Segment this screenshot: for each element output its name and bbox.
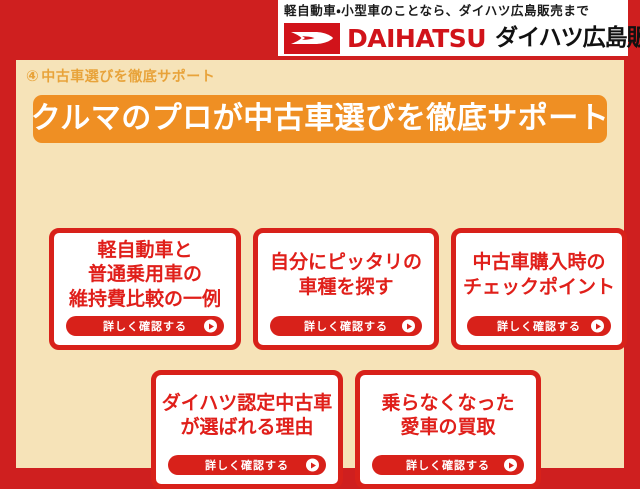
card-title: 自分にピッタリの 車種を探す (258, 233, 434, 316)
details-button-label: 詳しく確認する (497, 321, 581, 332)
circled-number-icon: ④ (26, 69, 39, 84)
play-arrow-icon (504, 459, 517, 472)
card-title-line: 乗らなくなった (381, 391, 514, 415)
details-button-label: 詳しく確認する (103, 321, 187, 332)
play-arrow-icon (306, 459, 319, 472)
page-title: クルマのプロが中古車選びを徹底サポート (31, 104, 610, 134)
card-title-line: 車種を探す (298, 275, 393, 299)
details-button[interactable]: 詳しく確認する (372, 455, 524, 475)
card-title: 中古車購入時の チェックポイント (456, 233, 622, 316)
play-arrow-icon (402, 320, 415, 333)
details-button[interactable]: 詳しく確認する (270, 316, 422, 336)
page-root: 軽自動車・小型車のことなら、ダイハツ広島販売まで DAIHATSU ダイハツ広島… (0, 0, 640, 480)
details-button-label: 詳しく確認する (205, 460, 289, 471)
card-title-line: 中古車購入時の (472, 250, 605, 274)
support-card-car-buyback[interactable]: 乗らなくなった 愛車の買取 詳しく確認する (355, 370, 541, 489)
section-kicker: ④ 中古車選びを徹底サポート (26, 66, 215, 86)
card-title-line: チェックポイント (463, 275, 615, 299)
header-tagline: 軽自動車・小型車のことなら、ダイハツ広島販売まで (284, 3, 624, 19)
card-title-line: 維持費比較の一例 (69, 287, 221, 311)
brand-logo[interactable]: DAIHATSU ダイハツ広島販売 (284, 22, 624, 54)
details-button[interactable]: 詳しく確認する (467, 316, 611, 336)
card-title: 軽自動車と 普通乗用車の 維持費比較の一例 (54, 233, 236, 316)
site-header: 軽自動車・小型車のことなら、ダイハツ広島販売まで DAIHATSU ダイハツ広島… (278, 0, 628, 56)
card-title: 乗らなくなった 愛車の買取 (360, 375, 536, 455)
support-card-maintenance-cost[interactable]: 軽自動車と 普通乗用車の 維持費比較の一例 詳しく確認する (49, 228, 241, 350)
brand-name-latin: DAIHATSU (347, 26, 486, 51)
section-kicker-label: 中古車選びを徹底サポート (41, 66, 215, 86)
card-title-line: 軽自動車と (97, 238, 192, 262)
card-title-line: 愛車の買取 (400, 415, 495, 439)
headline-banner: クルマのプロが中古車選びを徹底サポート (33, 95, 607, 143)
card-title-line: 普通乗用車の (88, 262, 202, 286)
card-title-line: 自分にピッタリの (270, 250, 422, 274)
brand-name-jp: ダイハツ広島販売 (495, 27, 640, 50)
support-card-purchase-checkpoints[interactable]: 中古車購入時の チェックポイント 詳しく確認する (451, 228, 627, 350)
support-card-find-model[interactable]: 自分にピッタリの 車種を探す 詳しく確認する (253, 228, 439, 350)
play-arrow-icon (591, 320, 604, 333)
details-button[interactable]: 詳しく確認する (66, 316, 224, 336)
support-card-certified-used-cars[interactable]: ダイハツ認定中古車 が選ばれる理由 詳しく確認する (151, 370, 343, 489)
play-arrow-icon (204, 320, 217, 333)
content-panel: ④ 中古車選びを徹底サポート クルマのプロが中古車選びを徹底サポート 軽自動車と… (16, 60, 624, 468)
details-button-label: 詳しく確認する (304, 321, 388, 332)
details-button[interactable]: 詳しく確認する (168, 455, 326, 475)
daihatsu-d-mark-icon (284, 23, 340, 54)
card-title-line: が選ばれる理由 (180, 415, 313, 439)
card-title-line: ダイハツ認定中古車 (162, 391, 333, 415)
card-title: ダイハツ認定中古車 が選ばれる理由 (156, 375, 338, 455)
details-button-label: 詳しく確認する (406, 460, 490, 471)
